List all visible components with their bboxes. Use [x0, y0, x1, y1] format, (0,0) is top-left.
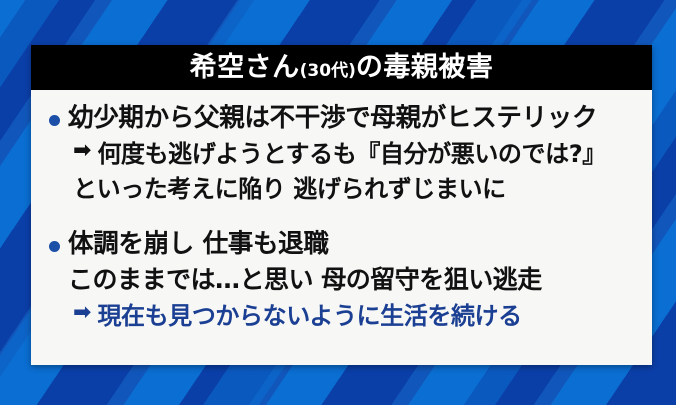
block-spacer [47, 208, 638, 230]
card-title-bar: 希空さん(30代)の毒親被害 [31, 45, 652, 90]
sub-line-1b: といった考えに陥り 逃げられずじまいに [73, 169, 638, 204]
sub-arrow-row-2: ➡ 現在も見つからないように生活を続ける [73, 296, 638, 331]
title-name-part: 希空さん [190, 54, 300, 81]
info-card: 希空さん(30代)の毒親被害 幼少期から父親は不干渉で母親がヒステリック ➡ 何… [31, 45, 652, 365]
sub-line-1a: 何度も逃げようとするも『自分が悪いのでは?』 [97, 134, 605, 169]
card-body: 幼少期から父親は不干渉で母親がヒステリック ➡ 何度も逃げようとするも『自分が悪… [31, 90, 652, 365]
bullet-headline-row-1: 幼少期から父親は不干渉で母親がヒステリック [47, 104, 638, 134]
round-bullet-icon [49, 241, 60, 252]
infographic-stage: 希空さん(30代)の毒親被害 幼少期から父親は不干渉で母親がヒステリック ➡ 何… [0, 0, 676, 405]
title-age-part: (30代) [300, 63, 356, 80]
plain-line-2: このままでは…と思い 母の留守を狙い逃走 [68, 260, 638, 296]
bullet-headline-2: 体調を崩し 仕事も退職 [68, 230, 329, 260]
page-title: 希空さん(30代)の毒親被害 [190, 54, 494, 81]
bullet-headline-row-2: 体調を崩し 仕事も退職 [47, 230, 638, 260]
sub-line-2a: 現在も見つからないように生活を続ける [97, 296, 521, 331]
sub-arrow-row-1: ➡ 何度も逃げようとするも『自分が悪いのでは?』 [73, 134, 638, 169]
right-arrow-icon: ➡ [73, 140, 91, 162]
right-arrow-icon: ➡ [73, 302, 91, 324]
bullet-block-1: 幼少期から父親は不干渉で母親がヒステリック ➡ 何度も逃げようとするも『自分が悪… [47, 104, 638, 204]
title-topic-part: の毒親被害 [356, 54, 494, 81]
round-bullet-icon [49, 115, 60, 126]
bullet-headline-1: 幼少期から父親は不干渉で母親がヒステリック [68, 104, 597, 134]
bullet-block-2: 体調を崩し 仕事も退職 このままでは…と思い 母の留守を狙い逃走 ➡ 現在も見つ… [47, 230, 638, 331]
